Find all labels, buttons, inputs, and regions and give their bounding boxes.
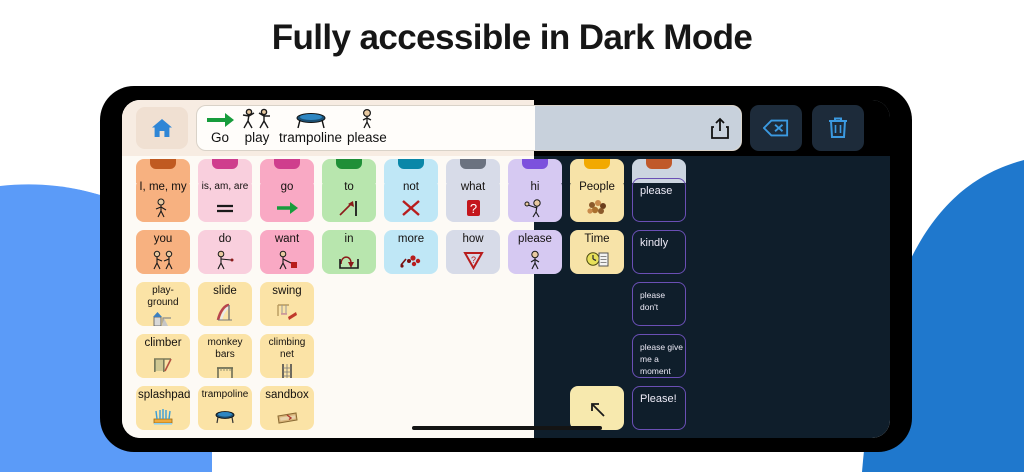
tab-indicator-nub [646,159,672,169]
grid-cell-climbing-net[interactable]: climbing net [260,334,314,378]
splashpad-icon [151,401,175,430]
grid-cell-sandbox[interactable]: sandbox [260,386,314,430]
sentence-word-label: play [245,130,270,146]
grid-cell-climber[interactable]: climber [136,334,190,378]
cell-label: not [384,181,438,193]
red-triangle-question-icon: ? [461,245,485,274]
sentence-word-label: trampoline [279,130,342,146]
cell-label: is, am, are [198,181,252,193]
grid-cell-please[interactable]: Please! [632,386,686,430]
share-button[interactable] [709,117,733,141]
swing-icon [275,297,299,326]
cell-label: swing [260,285,314,297]
more-items-icon [399,245,423,274]
grid-cell-play-ground[interactable]: play-ground [136,282,190,326]
clock-calendar-icon [585,245,609,274]
share-icon [709,117,731,141]
cell-label: more [384,233,438,245]
sentence-word-1[interactable]: play [240,108,274,146]
cell-label: climbing net [260,337,314,361]
sandbox-icon [275,401,299,430]
cell-label: Time [570,233,624,245]
person-please-icon [523,245,547,274]
cell-label: climber [136,337,190,349]
tab-indicator-nub [522,159,548,169]
grid-cell-to[interactable]: to [322,178,376,222]
cell-label: play-ground [136,285,190,309]
cell-label: please don't [638,289,685,313]
grid-cell-time[interactable]: Time [570,230,624,274]
back-arrow-button[interactable] [570,386,624,430]
svg-text:?: ? [470,201,477,216]
person-please-icon [356,108,378,130]
monkey-bars-icon [213,361,237,378]
tab-indicator-nub [398,159,424,169]
cell-label: slide [198,285,252,297]
person-waving-icon [523,193,547,222]
grid-cell-go[interactable]: go [260,178,314,222]
tablet-device-frame: Go [100,86,912,452]
grid-cell-splashpad[interactable]: splashpad [136,386,190,430]
home-button[interactable] [136,107,188,149]
children-playing-icon [240,108,274,130]
category-tab-row [122,156,890,178]
into-container-icon [337,245,361,274]
sentence-word-3[interactable]: please [347,108,387,146]
sentence-word-2[interactable]: trampoline [279,108,342,146]
back-arrow-icon [584,389,610,430]
equals-sign-icon [213,193,237,222]
stick-figure-want-icon [275,245,299,274]
tab-indicator-nub [584,159,610,169]
stick-figure-do-icon [213,245,237,274]
cell-label: what [446,181,500,193]
grid-cell-hi[interactable]: hi [508,178,562,222]
grid-cell-want[interactable]: want [260,230,314,274]
green-arrow-icon [275,193,299,222]
cell-label: please [508,233,562,245]
grid-cell-please-give-me-a-moment[interactable]: please give me a moment [632,334,686,378]
grid-cell-i-me-my[interactable]: I, me, my [136,178,190,222]
clear-sentence-button[interactable] [812,105,864,151]
sentence-word-0[interactable]: Go [205,108,235,146]
cell-label: in [322,233,376,245]
grid-cell-slide[interactable]: slide [198,282,252,326]
stick-figure-self-icon [151,193,175,222]
cell-label: I, me, my [136,181,190,193]
grid-cell-kindly[interactable]: kindly [632,230,686,274]
playground-icon [151,309,175,326]
red-question-box-icon: ? [461,193,485,222]
cell-label: please give me a moment [638,341,685,377]
sentence-output-bar[interactable]: Go [196,105,742,151]
cell-label: People [570,181,624,193]
grid-cell-please[interactable]: please [632,178,686,222]
home-icon [149,116,175,140]
grid-cell-please[interactable]: please [508,230,562,274]
cell-label: want [260,233,314,245]
green-arrow-icon [205,108,235,130]
tab-indicator-nub [460,159,486,169]
grid-cell-what[interactable]: what ? [446,178,500,222]
tab-indicator-nub [150,159,176,169]
grid-cell-trampoline[interactable]: trampoline [198,386,252,430]
page-root: Fully accessible in Dark Mode [0,0,1024,472]
cell-label: trampoline [198,389,252,401]
red-x-icon [399,193,423,222]
home-indicator-bar [412,426,602,430]
arrow-to-line-icon [337,193,361,222]
backspace-delete-icon [763,118,789,138]
tab-indicator-nub [274,159,300,169]
cell-label: how [446,233,500,245]
cell-label: go [260,181,314,193]
tab-indicator-nub [212,159,238,169]
grid-cell-people[interactable]: People [570,178,624,222]
cell-label: sandbox [260,389,314,401]
cell-label: please [638,185,685,197]
trampoline-icon [294,108,328,130]
sentence-words: Go [205,108,387,146]
svg-text:?: ? [471,255,476,265]
grid-cell-swing[interactable]: swing [260,282,314,326]
trash-icon [827,116,849,140]
cell-label: to [322,181,376,193]
grid-cell-you[interactable]: you [136,230,190,274]
grid-cell-not[interactable]: not [384,178,438,222]
sentence-word-label: Go [211,130,229,146]
page-title: Fully accessible in Dark Mode [0,18,1024,58]
grid-cell-is-am-are[interactable]: is, am, are [198,178,252,222]
grid-cell-please-don-t[interactable]: please don't [632,282,686,326]
tablet-screen: Go [122,100,890,438]
grid-cell-how[interactable]: how ? [446,230,500,274]
grid-cell-in[interactable]: in [322,230,376,274]
delete-word-button[interactable] [750,105,802,151]
sentence-word-label: please [347,130,387,146]
grid-cell-do[interactable]: do [198,230,252,274]
slide-icon [213,297,237,326]
cell-label: hi [508,181,562,193]
climbing-net-icon [275,361,299,378]
grid-cell-monkey-bars[interactable]: monkey bars [198,334,252,378]
cell-label: you [136,233,190,245]
tab-indicator-nub [336,159,362,169]
two-stick-figures-icon [151,245,175,274]
cell-label: do [198,233,252,245]
cell-label: kindly [638,237,685,249]
cell-label: Please! [638,393,685,405]
climber-icon [151,349,175,378]
cell-label: monkey bars [198,337,252,361]
vocabulary-grid: I, me, my you play-ground climber splash… [122,156,890,438]
group-of-people-icon [585,193,609,222]
top-toolbar: Go [122,100,890,156]
trampoline-icon [213,401,237,430]
cell-label: splashpad [136,389,190,401]
grid-cell-more[interactable]: more [384,230,438,274]
